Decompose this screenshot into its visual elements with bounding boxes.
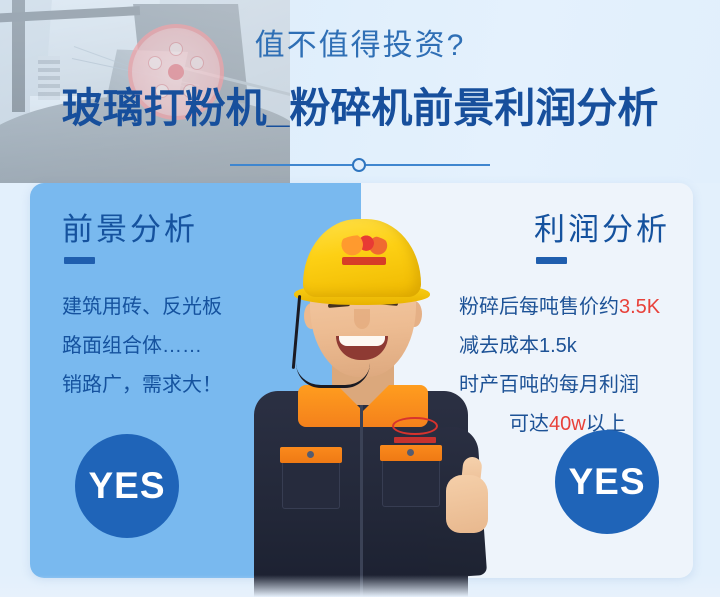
page-title: 玻璃打粉机_粉碎机前景利润分析 bbox=[0, 82, 720, 134]
prospect-panel-heading: 前景分析 bbox=[62, 211, 198, 249]
divider-dot-icon bbox=[352, 158, 366, 172]
uniform-chest-logo-icon bbox=[392, 417, 438, 435]
profit-line-4-highlight: 40w bbox=[549, 413, 586, 435]
header-banner: 值不值得投资? 玻璃打粉机_粉碎机前景利润分析 bbox=[0, 0, 720, 183]
worker-figure bbox=[218, 195, 494, 597]
prospect-line-2: 路面组合体…… bbox=[62, 327, 222, 366]
prospect-line-3: 销路广，需求大！ bbox=[62, 366, 222, 405]
header-subtitle: 值不值得投资? bbox=[0, 26, 720, 66]
prospect-panel-lines: 建筑用砖、反光板 路面组合体…… 销路广，需求大！ bbox=[62, 288, 222, 405]
profit-line-1-highlight: 3.5K bbox=[619, 296, 660, 318]
prospect-line-1: 建筑用砖、反光板 bbox=[62, 288, 222, 327]
prospect-accent-bar bbox=[64, 257, 95, 264]
profit-panel-heading: 利润分析 bbox=[534, 211, 670, 249]
poster-root: 值不值得投资? 玻璃打粉机_粉碎机前景利润分析 前景分析 建筑用砖、反光板 路面… bbox=[0, 0, 720, 597]
profit-accent-bar bbox=[536, 257, 567, 264]
prospect-yes-badge: YES bbox=[75, 434, 179, 538]
profit-yes-badge: YES bbox=[555, 430, 659, 534]
profit-line-4-prefix: 可达 bbox=[509, 413, 549, 435]
header-divider bbox=[230, 157, 490, 173]
